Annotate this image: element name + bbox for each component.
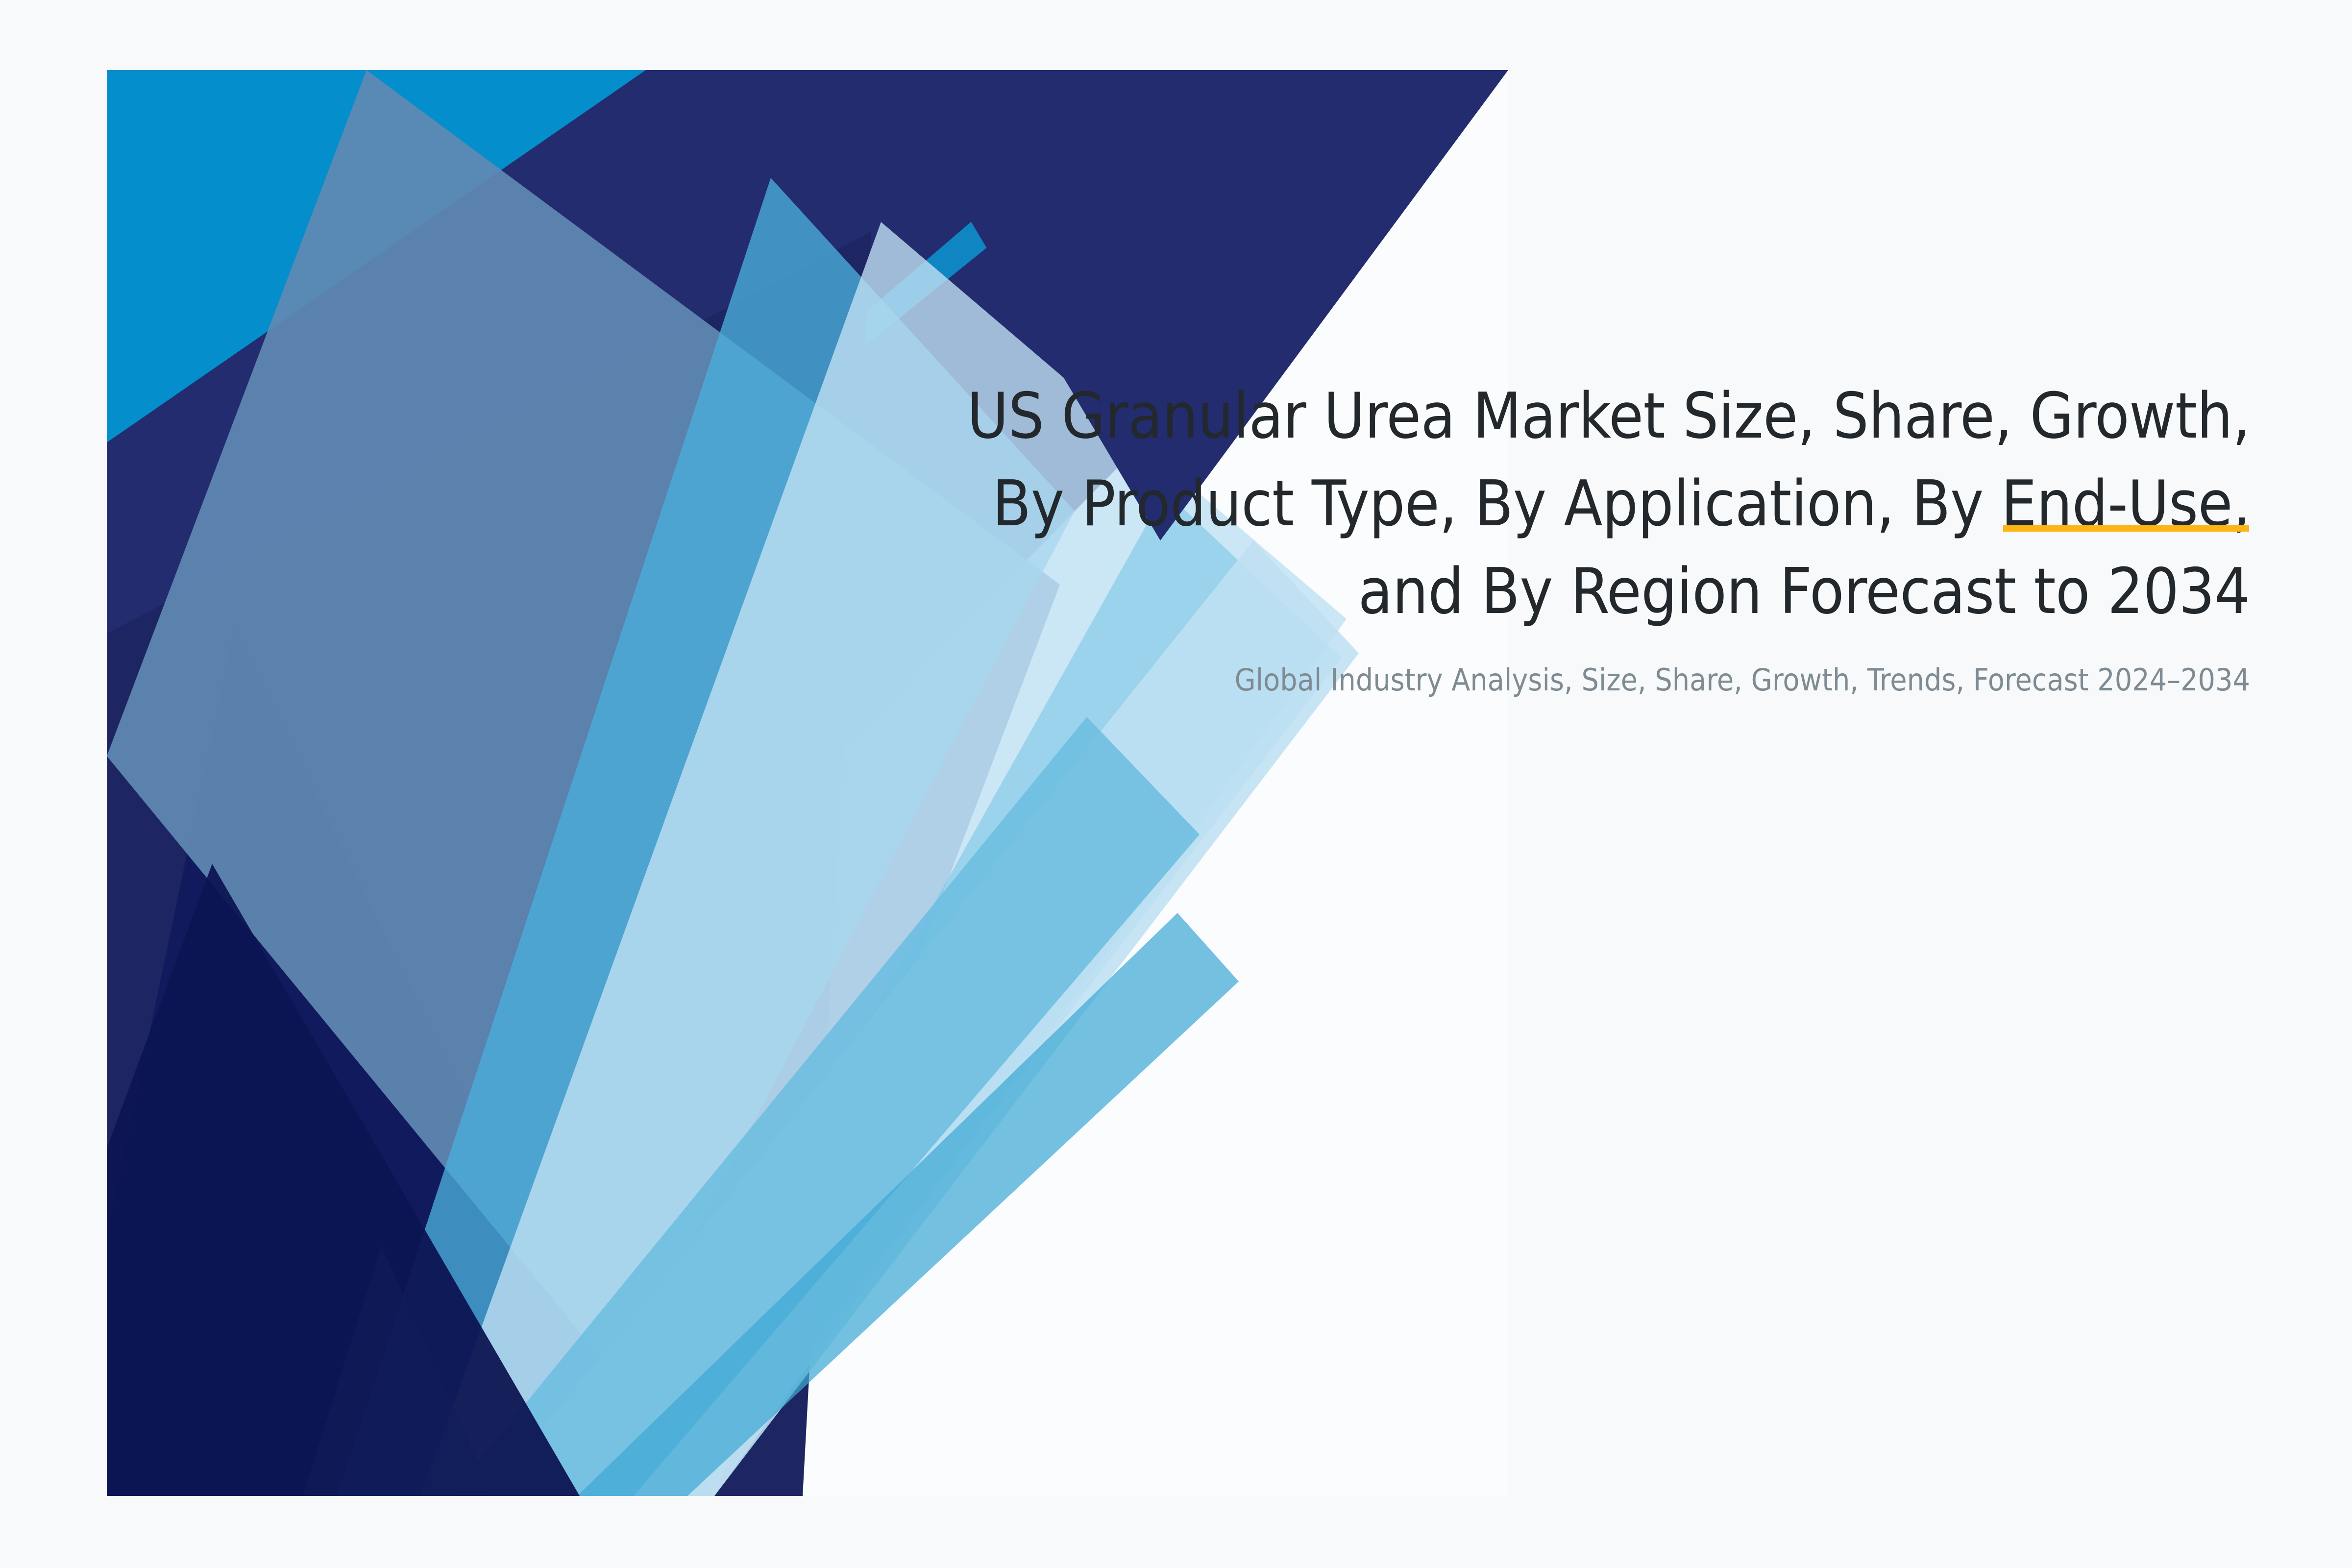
artwork-svg xyxy=(107,70,1508,1496)
title-text-block: US Granular Urea Market Size, Share, Gro… xyxy=(921,372,2250,636)
report-title: US Granular Urea Market Size, Share, Gro… xyxy=(921,372,2250,636)
report-subtitle: Global Industry Analysis, Size, Share, G… xyxy=(921,659,2250,702)
cover-page: US Granular Urea Market Size, Share, Gro… xyxy=(0,0,2352,1568)
abstract-polygon-graphic xyxy=(107,70,1508,1496)
accent-rule xyxy=(2003,525,2249,532)
